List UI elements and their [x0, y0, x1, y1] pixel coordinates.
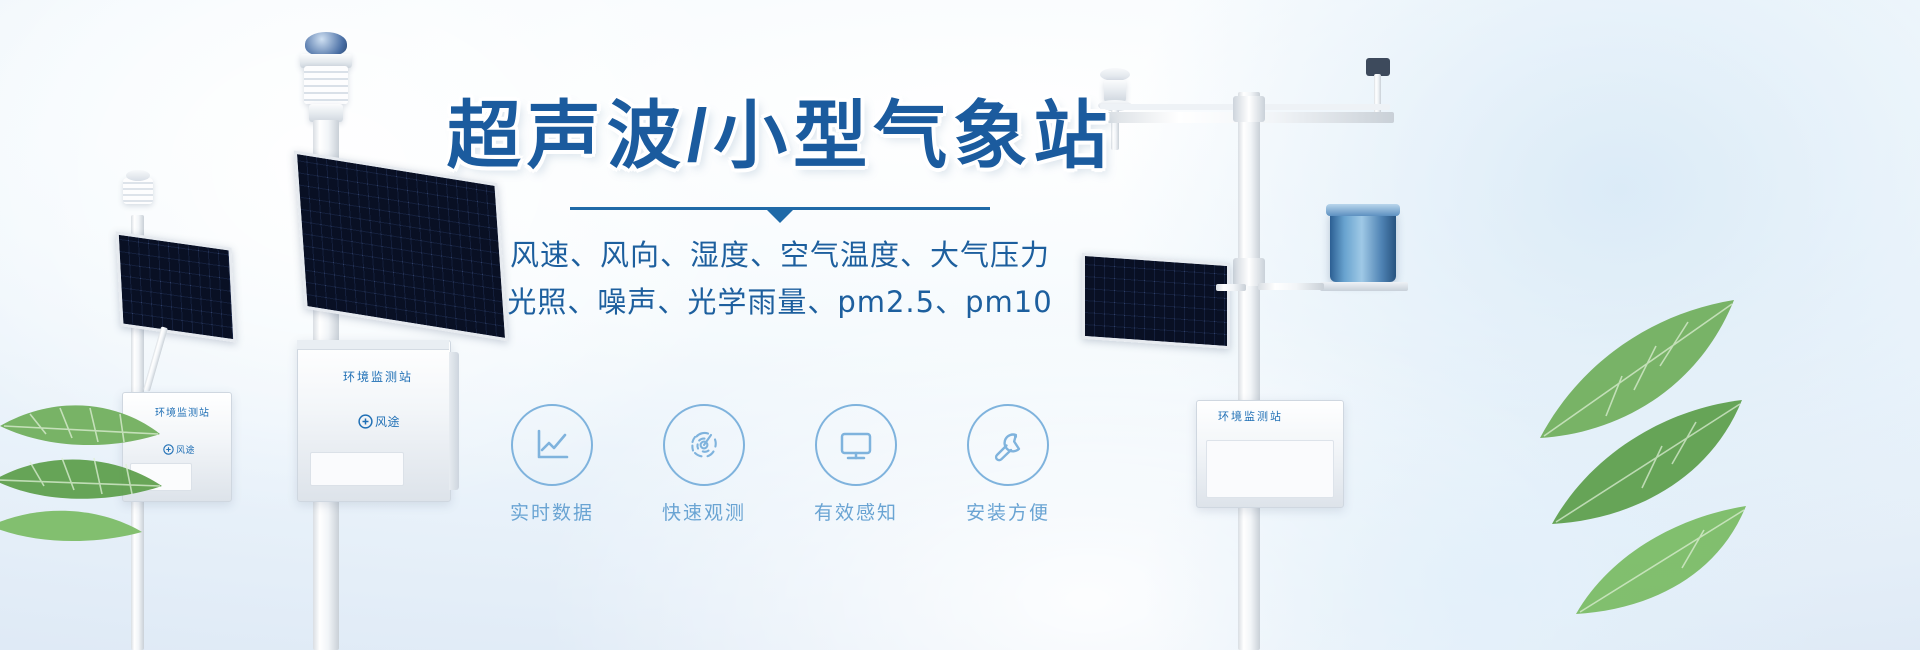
rain-gauge-shelf [1320, 282, 1408, 291]
banner-stage: 环境监测站 风途 环境监测站 风途 [0, 0, 1920, 650]
subtitle-line-2: 光照、噪声、光学雨量、pm2.5、pm10 [440, 279, 1120, 326]
enclosure-top-trim-middle [297, 340, 449, 350]
mast-clamp-top [1233, 96, 1265, 122]
leaf-decoration-right [1416, 292, 1746, 650]
page-title: 超声波/小型气象站 [440, 96, 1120, 176]
brand-text-middle: 风途 [375, 413, 400, 430]
feature-item-realtime-data[interactable]: 实时数据 [497, 404, 607, 525]
feature-label: 有效感知 [801, 498, 911, 525]
banner-text-block: 超声波/小型气象站 风速、风向、湿度、空气温度、大气压力 光照、噪声、光学雨量、… [440, 96, 1120, 326]
solar-panel-left [116, 231, 237, 342]
rain-gauge-body [1330, 210, 1396, 282]
mast-pole-right [1238, 92, 1260, 650]
enclosure-brand-left: 风途 [163, 443, 195, 456]
panel-support-left [143, 326, 168, 391]
divider-arrow-icon [767, 210, 793, 223]
solar-panel-arm-right [1216, 284, 1246, 291]
brand-text-left: 风途 [176, 443, 195, 456]
sensor-cap-left [126, 170, 150, 181]
feature-label: 快速观测 [649, 498, 759, 525]
rain-gauge-arm [1258, 283, 1324, 290]
ultrasonic-dome [305, 32, 347, 56]
monitor-screen-icon [815, 404, 897, 486]
rain-gauge-rim [1326, 204, 1400, 216]
radiation-shield-middle [304, 66, 348, 104]
enclosure-vent-middle [310, 452, 404, 486]
line-chart-icon [511, 404, 593, 486]
brand-logo-icon [163, 444, 174, 455]
title-divider [440, 198, 1120, 224]
feature-label: 实时数据 [497, 498, 607, 525]
enclosure-vent-left [130, 463, 192, 491]
brand-logo-icon [358, 414, 373, 429]
radar-signal-icon [663, 404, 745, 486]
wrench-spanner-icon [967, 404, 1049, 486]
feature-list: 实时数据 [440, 404, 1120, 525]
feature-item-easy-installation[interactable]: 安装方便 [953, 404, 1063, 525]
enclosure-door-right [1206, 440, 1334, 498]
feature-label: 安装方便 [953, 498, 1063, 525]
enclosure-label-left: 环境监测站 [155, 404, 210, 419]
mast-clamp-mid [1233, 258, 1265, 286]
subtitle-line-1: 风速、风向、湿度、空气温度、大气压力 [440, 232, 1120, 279]
feature-item-effective-sensing[interactable]: 有效感知 [801, 404, 911, 525]
enclosure-brand-middle: 风途 [358, 413, 400, 430]
radiation-shield-left [123, 178, 153, 204]
enclosure-label-right: 环境监测站 [1218, 408, 1283, 424]
enclosure-label-middle: 环境监测站 [343, 368, 413, 385]
feature-item-fast-observation[interactable]: 快速观测 [649, 404, 759, 525]
